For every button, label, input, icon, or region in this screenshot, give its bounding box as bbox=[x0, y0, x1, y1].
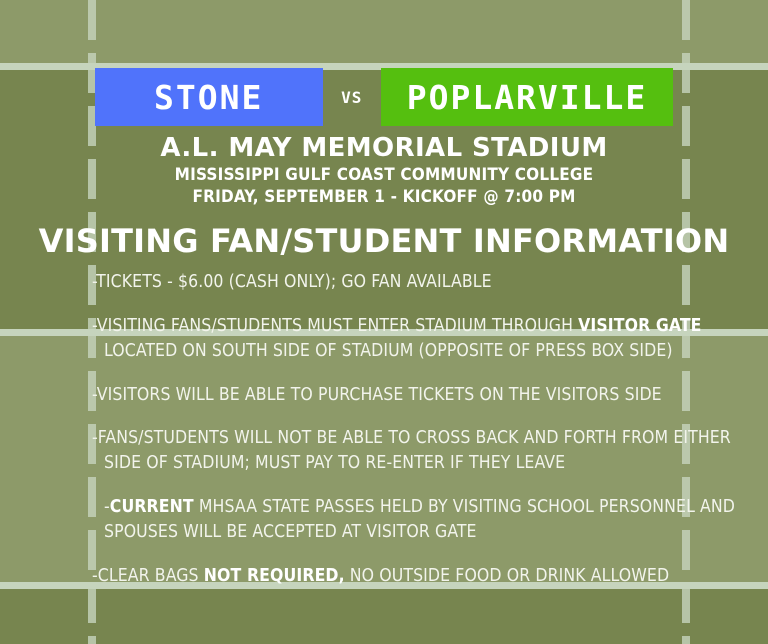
bullet-item: -VISITORS WILL BE ABLE TO PURCHASE TICKE… bbox=[92, 383, 692, 408]
bullet-line: -CLEAR BAGS NOT REQUIRED, NO OUTSIDE FOO… bbox=[92, 564, 692, 589]
bullet-line: SIDE OF STADIUM; MUST PAY TO RE-ENTER IF… bbox=[92, 451, 692, 476]
section-heading: VISITING FAN/STUDENT INFORMATION bbox=[0, 222, 768, 260]
bullet-text: -CLEAR BAGS bbox=[92, 566, 204, 586]
bullet-line: LOCATED ON SOUTH SIDE OF STADIUM (OPPOSI… bbox=[92, 339, 692, 364]
bullet-item: -CURRENT MHSAA STATE PASSES HELD BY VISI… bbox=[92, 495, 692, 545]
bullet-text: SPOUSES WILL BE ACCEPTED AT VISITOR GATE bbox=[104, 522, 477, 542]
bullet-text: -VISITORS WILL BE ABLE TO PURCHASE TICKE… bbox=[92, 385, 662, 405]
bullet-line: -FANS/STUDENTS WILL NOT BE ABLE TO CROSS… bbox=[92, 426, 692, 451]
home-team-box: STONE bbox=[95, 68, 323, 126]
venue-name: A.L. MAY MEMORIAL STADIUM bbox=[0, 133, 768, 164]
home-team-name: STONE bbox=[154, 81, 263, 114]
venue-school: MISSISSIPPI GULF COAST COMMUNITY COLLEGE bbox=[0, 164, 768, 186]
bullet-item: -FANS/STUDENTS WILL NOT BE ABLE TO CROSS… bbox=[92, 426, 692, 476]
venue-datetime: FRIDAY, SEPTEMBER 1 - KICKOFF @ 7:00 PM bbox=[0, 186, 768, 208]
bullet-line: -VISITING FANS/STUDENTS MUST ENTER STADI… bbox=[92, 314, 692, 339]
bullet-text: -FANS/STUDENTS WILL NOT BE ABLE TO CROSS… bbox=[92, 428, 731, 448]
bullet-text: SIDE OF STADIUM; MUST PAY TO RE-ENTER IF… bbox=[104, 453, 565, 473]
bullet-line: -CURRENT MHSAA STATE PASSES HELD BY VISI… bbox=[92, 495, 692, 520]
bullet-text: LOCATED ON SOUTH SIDE OF STADIUM (OPPOSI… bbox=[104, 341, 673, 361]
bullet-item: -TICKETS - $6.00 (CASH ONLY); GO FAN AVA… bbox=[92, 270, 692, 295]
away-team-box: POPLARVILLE bbox=[381, 68, 674, 126]
bullet-line: -VISITORS WILL BE ABLE TO PURCHASE TICKE… bbox=[92, 383, 692, 408]
bullet-emphasis: VISITOR GATE bbox=[578, 316, 701, 336]
bullet-text: MHSAA STATE PASSES HELD BY VISITING SCHO… bbox=[194, 497, 735, 517]
bullet-emphasis: CURRENT bbox=[110, 497, 194, 517]
bullet-emphasis: NOT REQUIRED, bbox=[204, 566, 345, 586]
bullet-text: NO OUTSIDE FOOD OR DRINK ALLOWED bbox=[345, 566, 670, 586]
versus-label: VS bbox=[323, 68, 381, 126]
away-team-name: POPLARVILLE bbox=[407, 81, 648, 114]
bullet-text: -VISITING FANS/STUDENTS MUST ENTER STADI… bbox=[92, 316, 578, 336]
bullet-text: -TICKETS - $6.00 (CASH ONLY); GO FAN AVA… bbox=[92, 272, 492, 292]
bullet-item: -VISITING FANS/STUDENTS MUST ENTER STADI… bbox=[92, 314, 692, 364]
information-bullet-list: -TICKETS - $6.00 (CASH ONLY); GO FAN AVA… bbox=[92, 270, 692, 608]
bullet-line: SPOUSES WILL BE ACCEPTED AT VISITOR GATE bbox=[92, 520, 692, 545]
graphic-content: STONE VS POPLARVILLE A.L. MAY MEMORIAL S… bbox=[0, 0, 768, 644]
matchup-banner: STONE VS POPLARVILLE bbox=[0, 68, 768, 126]
bullet-item: -CLEAR BAGS NOT REQUIRED, NO OUTSIDE FOO… bbox=[92, 564, 692, 589]
venue-info: A.L. MAY MEMORIAL STADIUM MISSISSIPPI GU… bbox=[0, 133, 768, 209]
bullet-line: -TICKETS - $6.00 (CASH ONLY); GO FAN AVA… bbox=[92, 270, 692, 295]
